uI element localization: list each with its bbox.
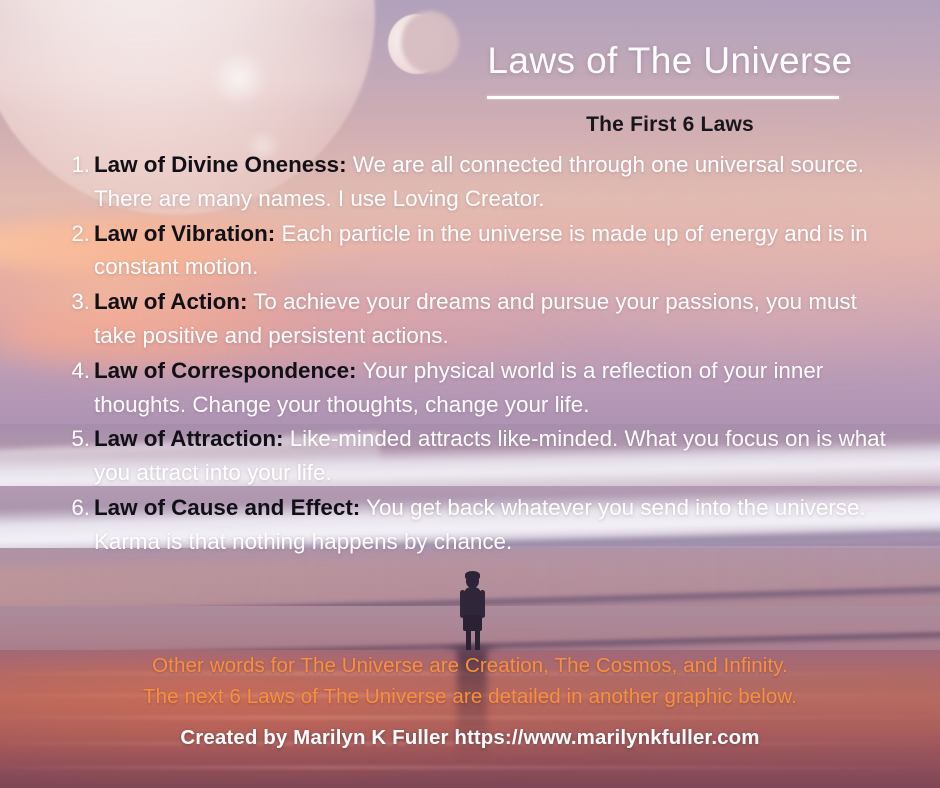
law-name: Law of Attraction: [94, 426, 283, 451]
page-subtitle: The First 6 Laws [470, 113, 870, 137]
list-item: 1.Law of Divine Oneness: We are all conn… [58, 148, 888, 216]
poster-canvas: Laws of The Universe The First 6 Laws 1.… [0, 0, 940, 788]
law-name: Law of Action: [94, 289, 247, 314]
title-divider [487, 96, 839, 99]
list-item-number: 5. [66, 422, 90, 456]
list-item: 4.Law of Correspondence: Your physical w… [58, 354, 888, 422]
list-item-number: 1. [66, 148, 90, 182]
footer-note: Other words for The Universe are Creatio… [0, 650, 940, 712]
list-item: 6.Law of Cause and Effect: You get back … [58, 491, 888, 559]
list-item: 2.Law of Vibration: Each particle in the… [58, 217, 888, 285]
credit-line: Created by Marilyn K Fuller https://www.… [0, 726, 940, 750]
page-title: Laws of The Universe [470, 40, 870, 82]
laws-list: 1.Law of Divine Oneness: We are all conn… [58, 148, 888, 560]
list-item-number: 3. [66, 285, 90, 319]
list-item: 3.Law of Action: To achieve your dreams … [58, 285, 888, 353]
list-item-number: 4. [66, 354, 90, 388]
footer-note-line-1: Other words for The Universe are Creatio… [0, 650, 940, 681]
law-name: Law of Divine Oneness: [94, 152, 347, 177]
list-item-number: 6. [66, 491, 90, 525]
footer-note-line-2: The next 6 Laws of The Universe are deta… [0, 681, 940, 712]
law-name: Law of Vibration: [94, 221, 275, 246]
law-name: Law of Cause and Effect: [94, 495, 360, 520]
text-overlay: Laws of The Universe The First 6 Laws 1.… [0, 0, 940, 788]
list-item: 5.Law of Attraction: Like-minded attract… [58, 422, 888, 490]
list-item-number: 2. [66, 217, 90, 251]
law-name: Law of Correspondence: [94, 358, 357, 383]
